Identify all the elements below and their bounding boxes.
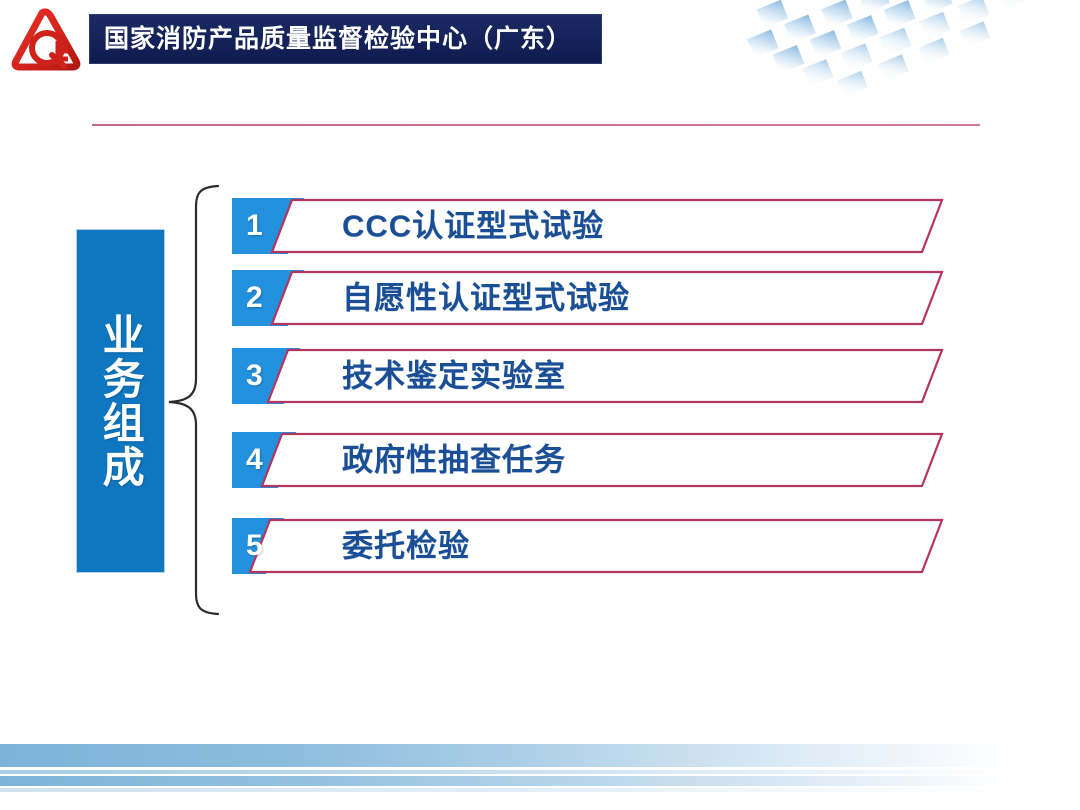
item-number: 2 [246,283,263,313]
mosaic-decoration [660,0,1080,100]
curly-brace-connector-icon [166,183,222,617]
page-title: 国家消防产品质量监督检验中心（广东） [104,27,572,52]
item-label: 政府性抽查任务 [342,445,566,476]
footer-band [0,744,1010,767]
organization-logo-icon [8,7,84,75]
item-number: 1 [246,211,263,241]
item-bar-shape [232,518,944,574]
section-title-label: 业务组成 [98,313,143,489]
footer-decoration [0,718,1080,810]
header-divider-line [92,124,980,126]
footer-band [0,776,1010,786]
section-title-panel: 业务组成 [77,230,164,572]
footer-band [0,770,1010,774]
item-label: 自愿性认证型式试验 [342,283,630,314]
item-bar-shape [232,432,944,488]
item-number: 5 [246,531,263,561]
header-title-banner: 国家消防产品质量监督检验中心（广东） [89,14,602,64]
item-label: CCC认证型式试验 [342,211,604,242]
slide-root: 国家消防产品质量监督检验中心（广东） 业务组成 1 CCC认证型式试验 [0,0,1080,810]
item-label: 委托检验 [342,531,470,562]
item-number: 4 [246,445,263,475]
item-bar-shape [232,348,944,404]
item-label: 技术鉴定实验室 [342,361,566,392]
footer-band [0,788,1010,792]
item-number: 3 [246,361,263,391]
